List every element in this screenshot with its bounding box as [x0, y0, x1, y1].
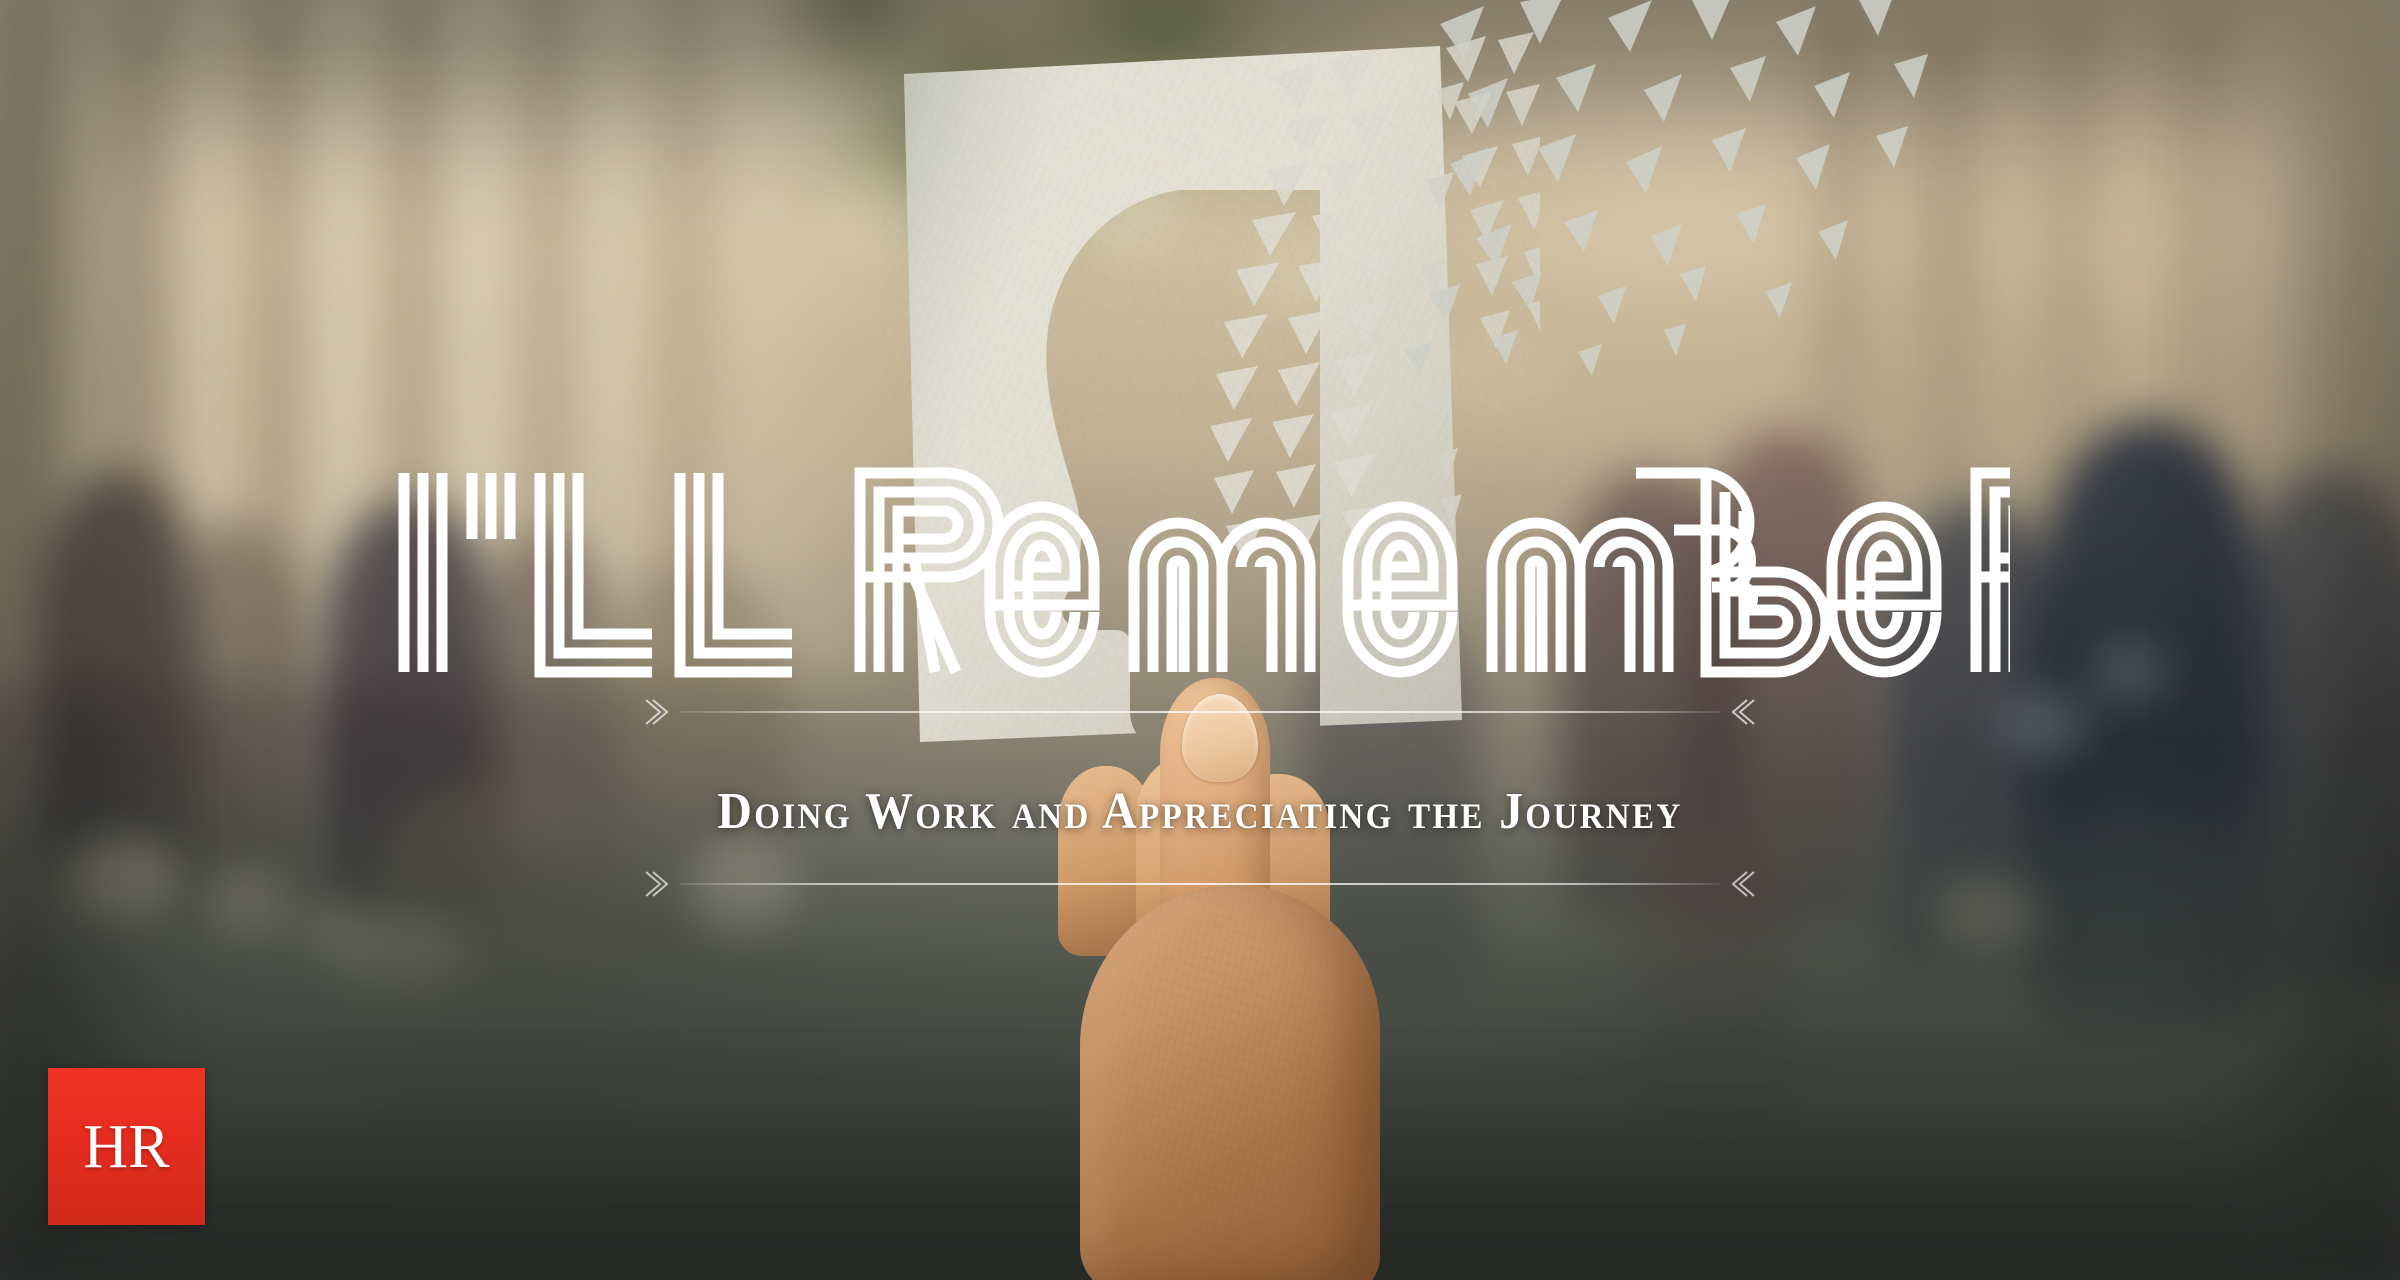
bokeh-light	[2090, 640, 2170, 704]
banner-canvas: I'LL REMEMBER Doing Work and Appreciatin…	[0, 0, 2400, 1280]
bokeh-light	[2000, 690, 2090, 760]
hr-logo-mark: HR	[83, 1116, 169, 1178]
paper-fragments	[1380, 0, 2360, 434]
palm	[1080, 885, 1380, 1280]
page-subtitle: Doing Work and Appreciating the Journey	[96, 782, 2304, 841]
paper-cutout-head	[880, 30, 1540, 760]
hr-logo[interactable]: HR	[48, 1068, 205, 1225]
